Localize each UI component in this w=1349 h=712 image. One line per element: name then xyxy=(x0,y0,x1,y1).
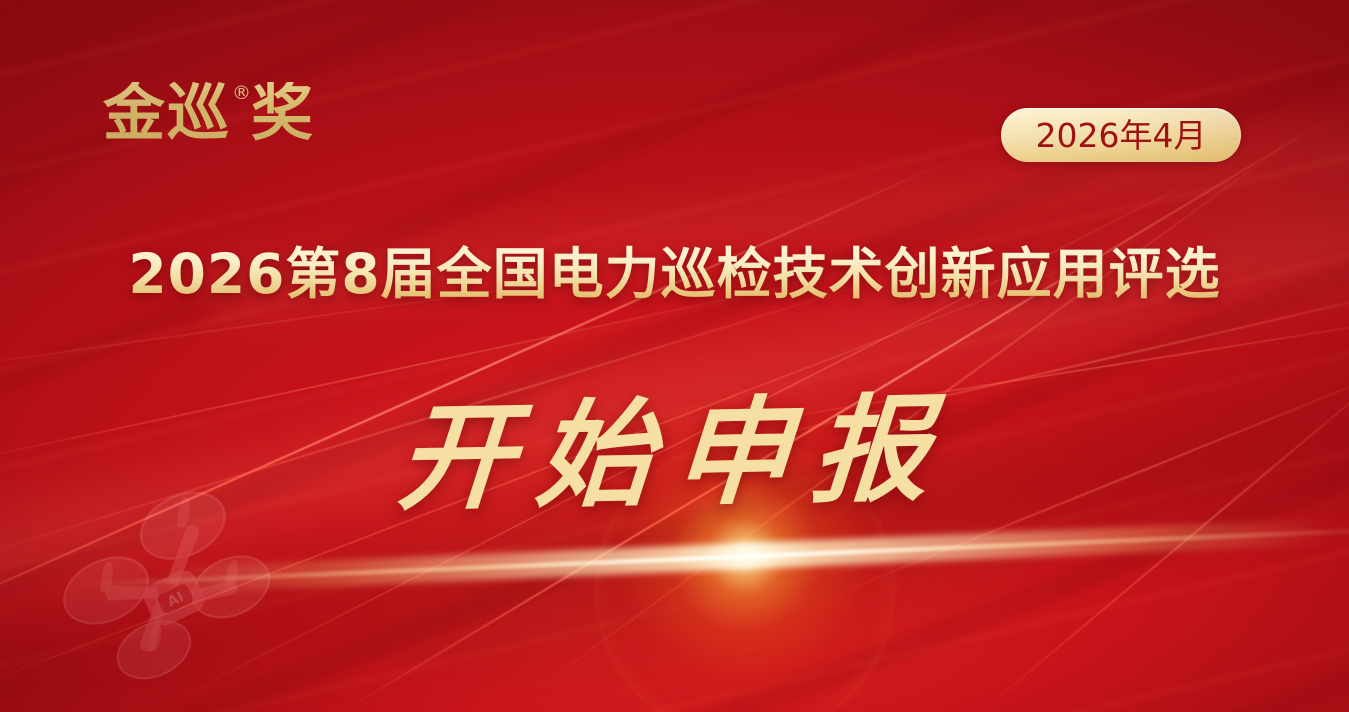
registered-trademark-icon: ® xyxy=(232,84,251,103)
headline-call-for-entries: 开始申报 xyxy=(0,380,1349,529)
award-announcement-banner: AI 金巡 ® 奖 2026年4月 2026第8届全国电力巡检技术创新应用评选 … xyxy=(0,0,1349,712)
date-badge: 2026年4月 xyxy=(1001,108,1241,162)
brand-logo[interactable]: 金巡 ® 奖 xyxy=(103,82,315,144)
brand-logo-suffix: 奖 xyxy=(251,82,315,144)
brand-logo-wordmark: 金巡 xyxy=(103,82,231,144)
date-badge-label: 2026年4月 xyxy=(1036,119,1207,152)
page-title: 2026第8届全国电力巡检技术创新应用评选 xyxy=(0,243,1349,306)
